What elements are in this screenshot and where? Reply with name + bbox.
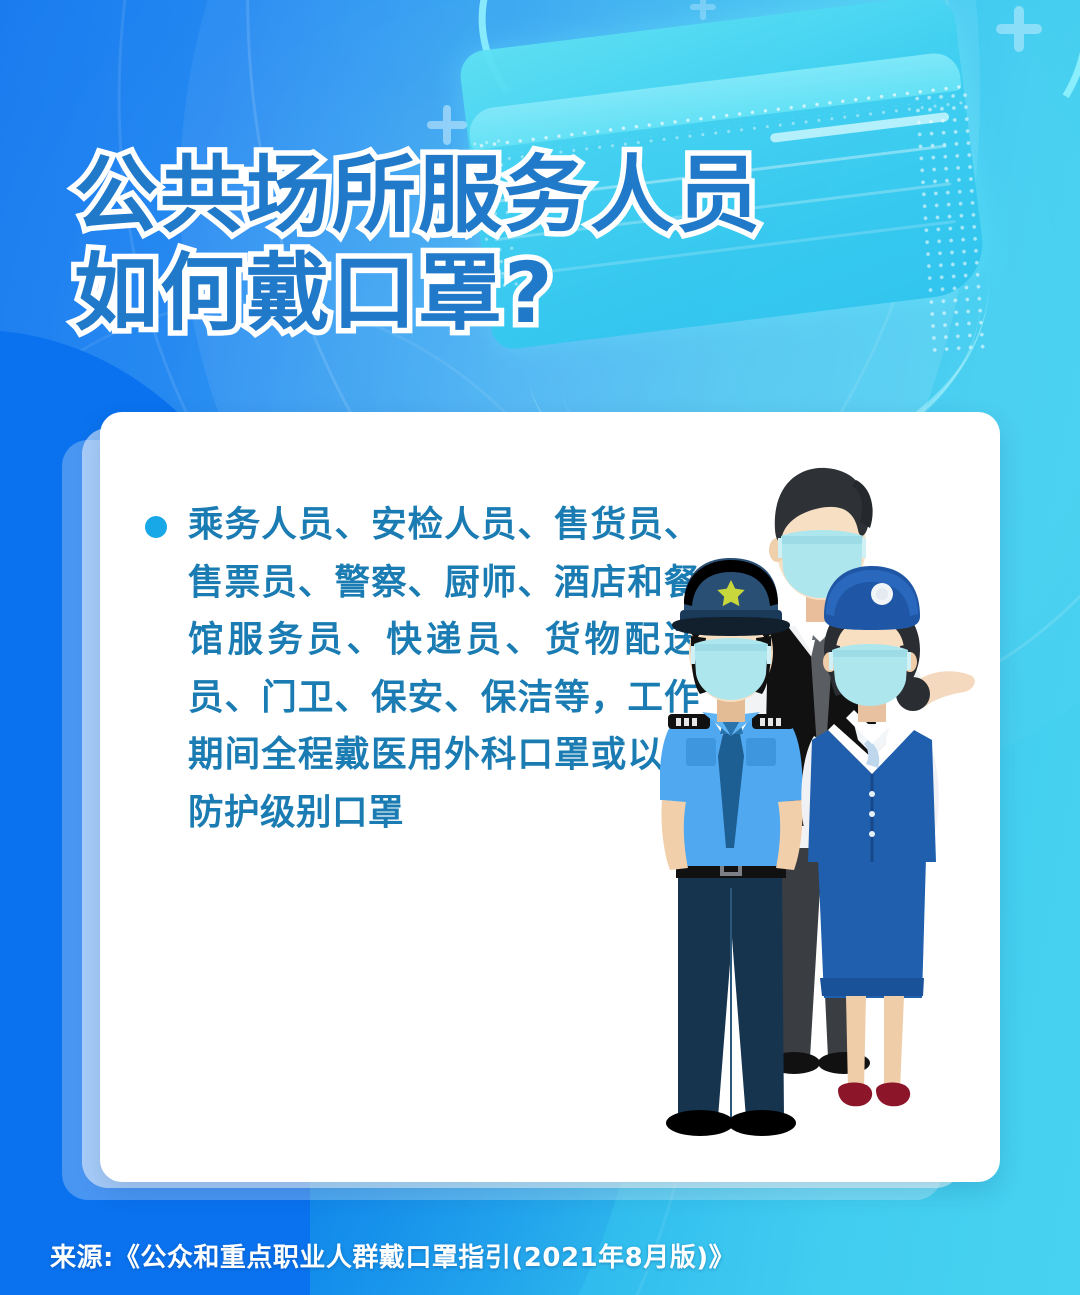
plus-icon-left <box>427 105 467 145</box>
content-card: 乘务人员、安检人员、售货员、售票员、警察、厨师、酒店和餐馆服务员、快递员、货物配… <box>100 412 1000 1182</box>
plus-icon-small <box>690 0 716 20</box>
infographic-poster: 公共场所服务人员 如何戴口罩? 乘务人员、安检人员、售货员、售票员、警察、厨师、… <box>0 0 1080 1295</box>
page-title-line-2: 如何戴口罩? <box>74 244 762 342</box>
page-title-line-1: 公共场所服务人员 <box>74 146 762 244</box>
source-footer: 来源:《公众和重点职业人群戴口罩指引(2021年8月版)》 <box>50 1237 735 1274</box>
bullet-point-icon <box>145 516 167 538</box>
page-title: 公共场所服务人员 如何戴口罩? <box>74 146 762 343</box>
plus-icon-top-right <box>996 6 1042 52</box>
card-body-text: 乘务人员、安检人员、售货员、售票员、警察、厨师、酒店和餐馆服务员、快递员、货物配… <box>188 496 700 841</box>
service-workers-illustration <box>660 418 990 1178</box>
